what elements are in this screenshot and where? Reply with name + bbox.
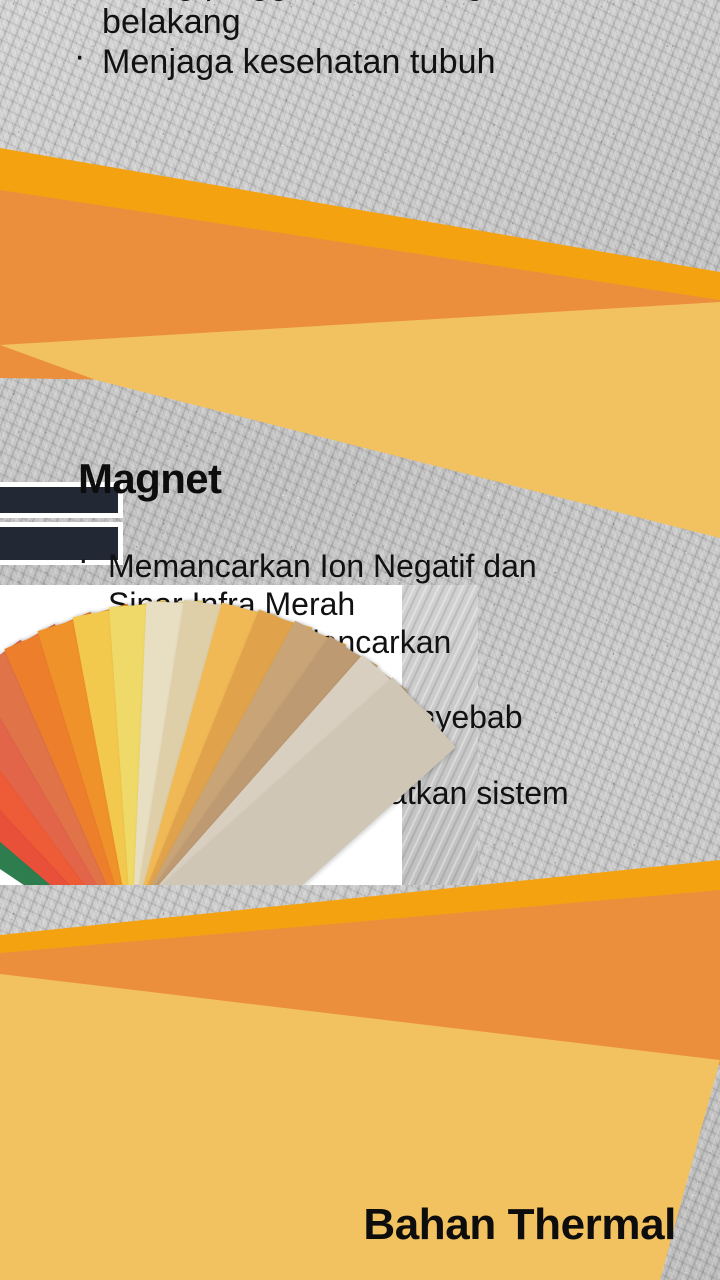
top-bullet-item: Menjaga kesehatan tubuh (62, 43, 682, 82)
bullet-line: Memancarkan Ion Negatif dan (108, 548, 706, 586)
top-bullet-list-items: tulang pinggul dan tulang belakang Menja… (62, 0, 682, 82)
footer-title: Bahan Thermal (363, 1200, 676, 1250)
top-bullet-item: belakang (62, 3, 682, 42)
top-bullet-list: tulang pinggul dan tulang belakang Menja… (62, 0, 682, 82)
slide-canvas: tulang pinggul dan tulang belakang Menja… (0, 0, 720, 1280)
section-heading: Magnet (78, 455, 221, 503)
